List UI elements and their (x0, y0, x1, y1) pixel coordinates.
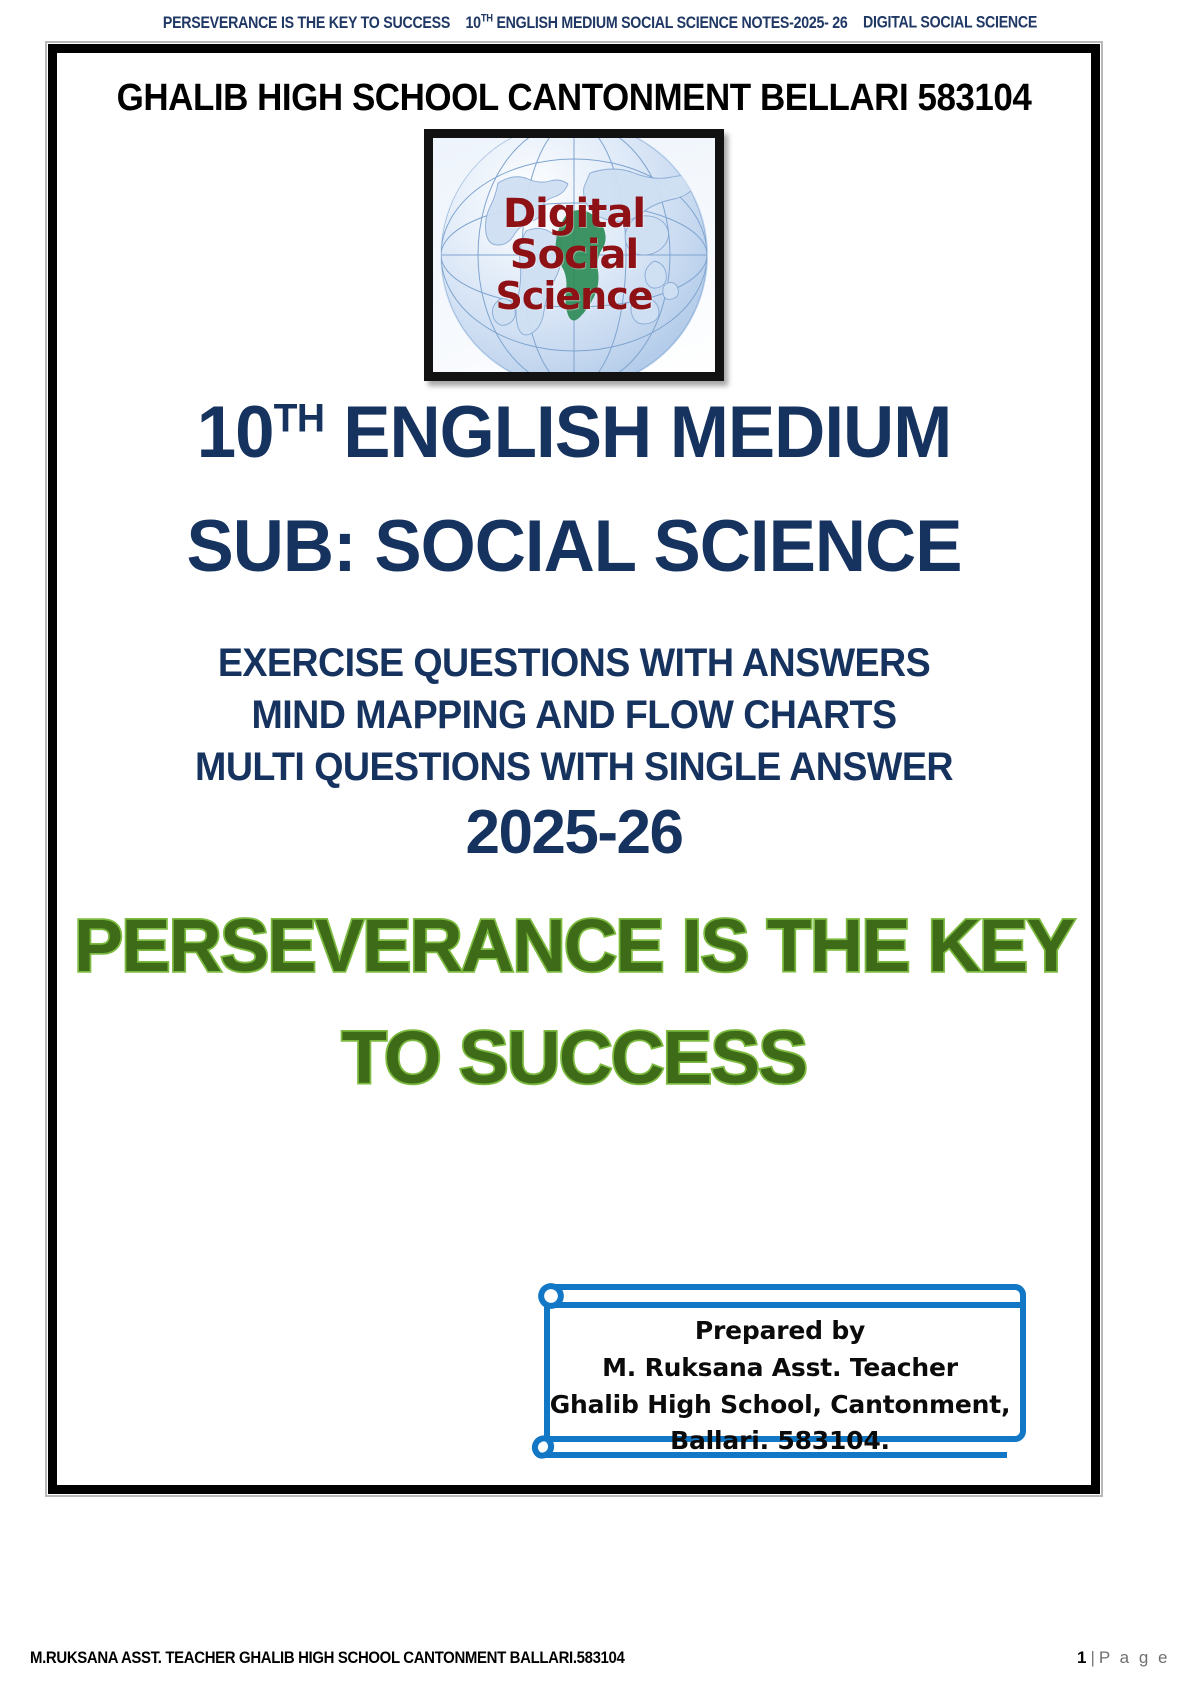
prepared-by-line-4: Ballari. 583104. (549, 1423, 1011, 1460)
prepared-by-box: Prepared by M. Ruksana Asst. Teacher Gha… (515, 1265, 1035, 1471)
prepared-by-line-1: Prepared by (549, 1313, 1011, 1350)
cover-subtitle-2: MIND MAPPING AND FLOW CHARTS (90, 693, 1058, 738)
prepared-by-line-3: Ghalib High School, Cantonment, (549, 1387, 1011, 1424)
logo-line-2: Social (510, 235, 638, 277)
motto-line-1: PERSEVERANCE IS THE KEY (64, 903, 1084, 988)
page-word: P a g e (1099, 1648, 1170, 1667)
header-ordinal-suffix: TH (481, 12, 493, 24)
running-footer: M.RUKSANA ASST. TEACHER GHALIB HIGH SCHO… (30, 1648, 1170, 1668)
footer-page-indicator: 1|P a g e (1077, 1648, 1170, 1668)
header-right-text: DIGITAL SOCIAL SCIENCE (863, 14, 1037, 32)
prepared-by-line-2: M. Ruksana Asst. Teacher (549, 1350, 1011, 1387)
logo-artwork: Digital Social Science (433, 138, 715, 372)
cover-title-line-1: 10TH ENGLISH MEDIUM (74, 391, 1073, 474)
page-content-area: GHALIB HIGH SCHOOL CANTONMENT BELLARI 58… (57, 53, 1091, 1485)
school-name-heading: GHALIB HIGH SCHOOL CANTONMENT BELLARI 58… (100, 77, 1048, 120)
page-separator: | (1091, 1648, 1095, 1667)
cover-subtitle-3: MULTI QUESTIONS WITH SINGLE ANSWER (90, 745, 1058, 790)
footer-left-text: M.RUKSANA ASST. TEACHER GHALIB HIGH SCHO… (30, 1648, 624, 1668)
logo-line-3: Science (495, 277, 652, 317)
title-ordinal-suffix: TH (274, 396, 325, 441)
prepared-by-text: Prepared by M. Ruksana Asst. Teacher Gha… (549, 1313, 1011, 1460)
motto-line-2: TO SUCCESS (59, 1015, 1089, 1100)
cover-subtitle-1: EXERCISE QUESTIONS WITH ANSWERS (90, 641, 1058, 686)
logo-line-1: Digital (503, 194, 645, 236)
page-number: 1 (1077, 1648, 1086, 1667)
running-header: PERSEVERANCE IS THE KEY TO SUCCESS10TH E… (84, 12, 1116, 33)
digital-social-science-logo: Digital Social Science (424, 129, 724, 381)
page-border-frame: GHALIB HIGH SCHOOL CANTONMENT BELLARI 58… (48, 44, 1100, 1494)
logo-text: Digital Social Science (433, 138, 715, 372)
header-middle-text: 10TH ENGLISH MEDIUM SOCIAL SCIENCE NOTES… (466, 14, 848, 32)
academic-year: 2025-26 (59, 797, 1089, 868)
cover-title-line-2: SUB: SOCIAL SCIENCE (74, 505, 1073, 588)
header-left-text: PERSEVERANCE IS THE KEY TO SUCCESS (163, 14, 450, 32)
